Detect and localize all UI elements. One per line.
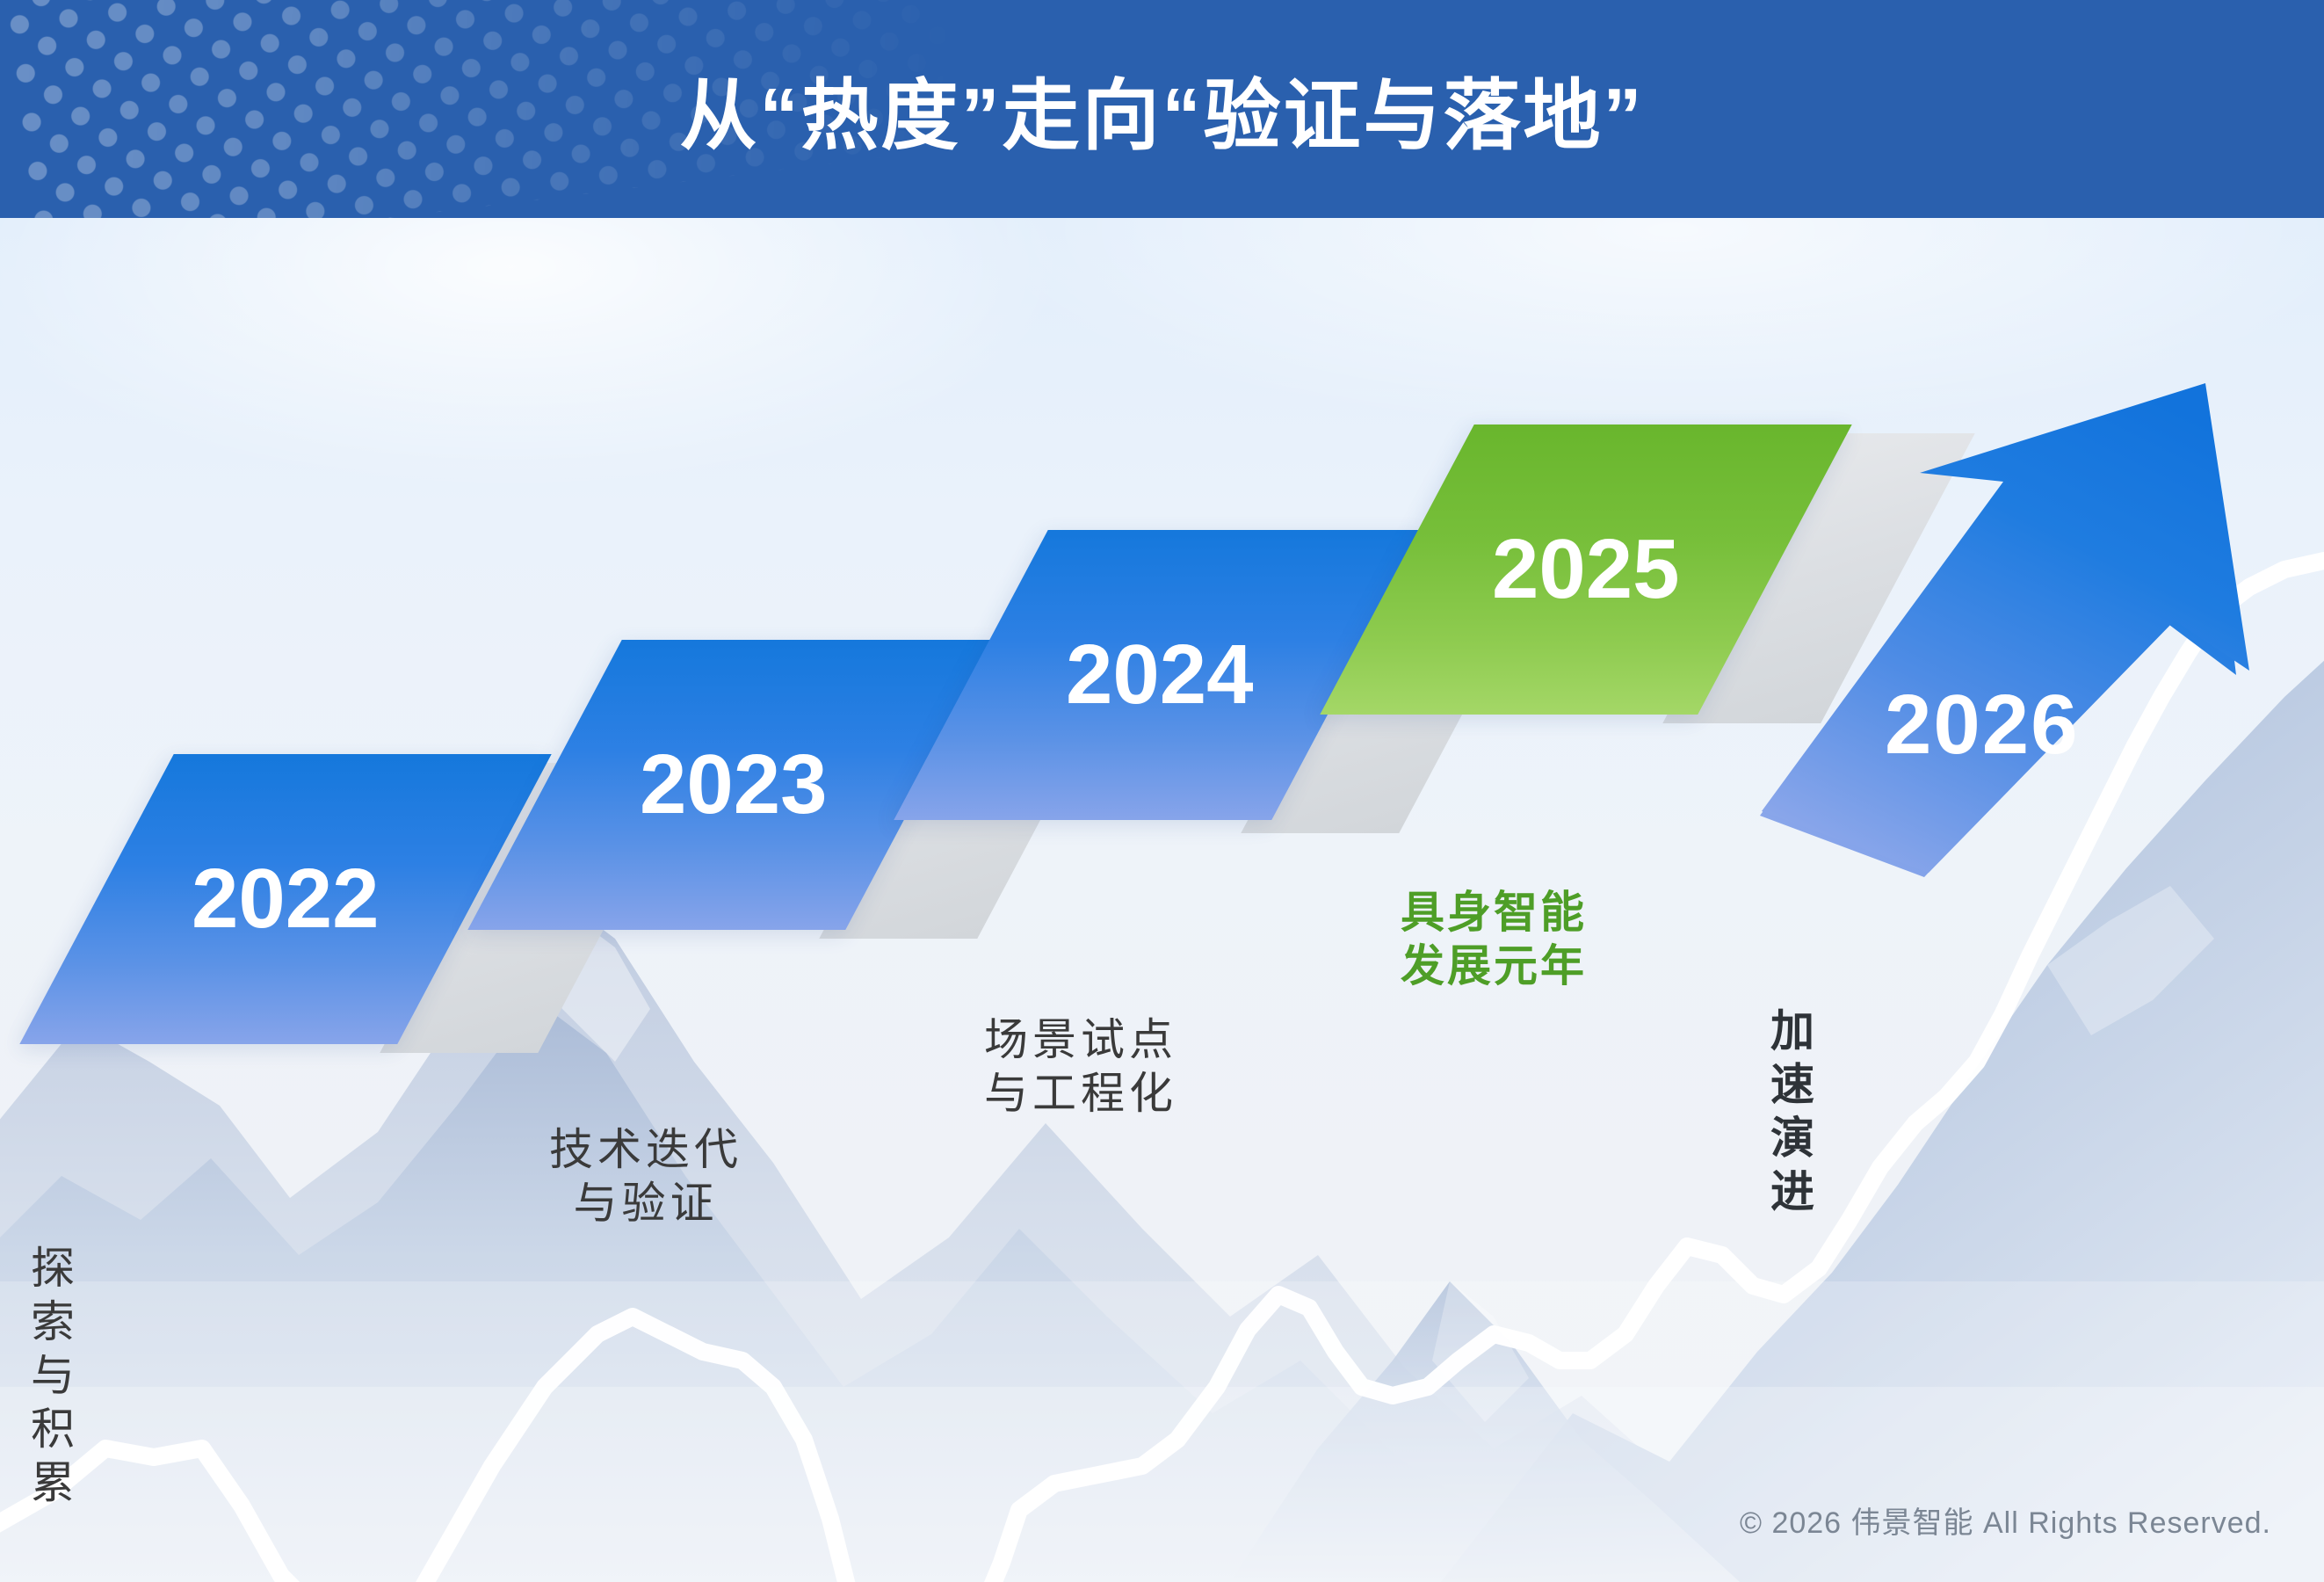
year-label-2026: 2026	[1885, 677, 2080, 773]
year-label-2022: 2022	[192, 851, 380, 947]
slide-canvas: 从“热度”走向“验证与落地”	[0, 0, 2324, 1582]
growth-arrow-icon[interactable]: 2026	[1744, 367, 2324, 895]
step-caption-2024: 场景试点 与工程化	[914, 1013, 1248, 1121]
copyright-notice: © 2026 伟景智能 All Rights Reserved.	[1740, 1499, 2271, 1542]
year-label-2023: 2023	[640, 737, 828, 833]
step-caption-2022: 探索与积累	[31, 1242, 79, 1510]
step-caption-2026: 加速演进	[1770, 1005, 1817, 1219]
step-caption-2023: 技术迭代 与验证	[501, 1123, 791, 1230]
step-caption-2025: 具身智能 发展元年	[1344, 886, 1643, 993]
year-label-2025: 2025	[1492, 521, 1680, 618]
year-label-2024: 2024	[1066, 627, 1254, 723]
timeline-steps: 2022 探索与积累 2023 技术迭代 与验证 2024 场景试点 与工程化 …	[0, 218, 2324, 1582]
page-title: 从“热度”走向“验证与落地”	[0, 0, 2324, 218]
header-bar: 从“热度”走向“验证与落地”	[0, 0, 2324, 218]
